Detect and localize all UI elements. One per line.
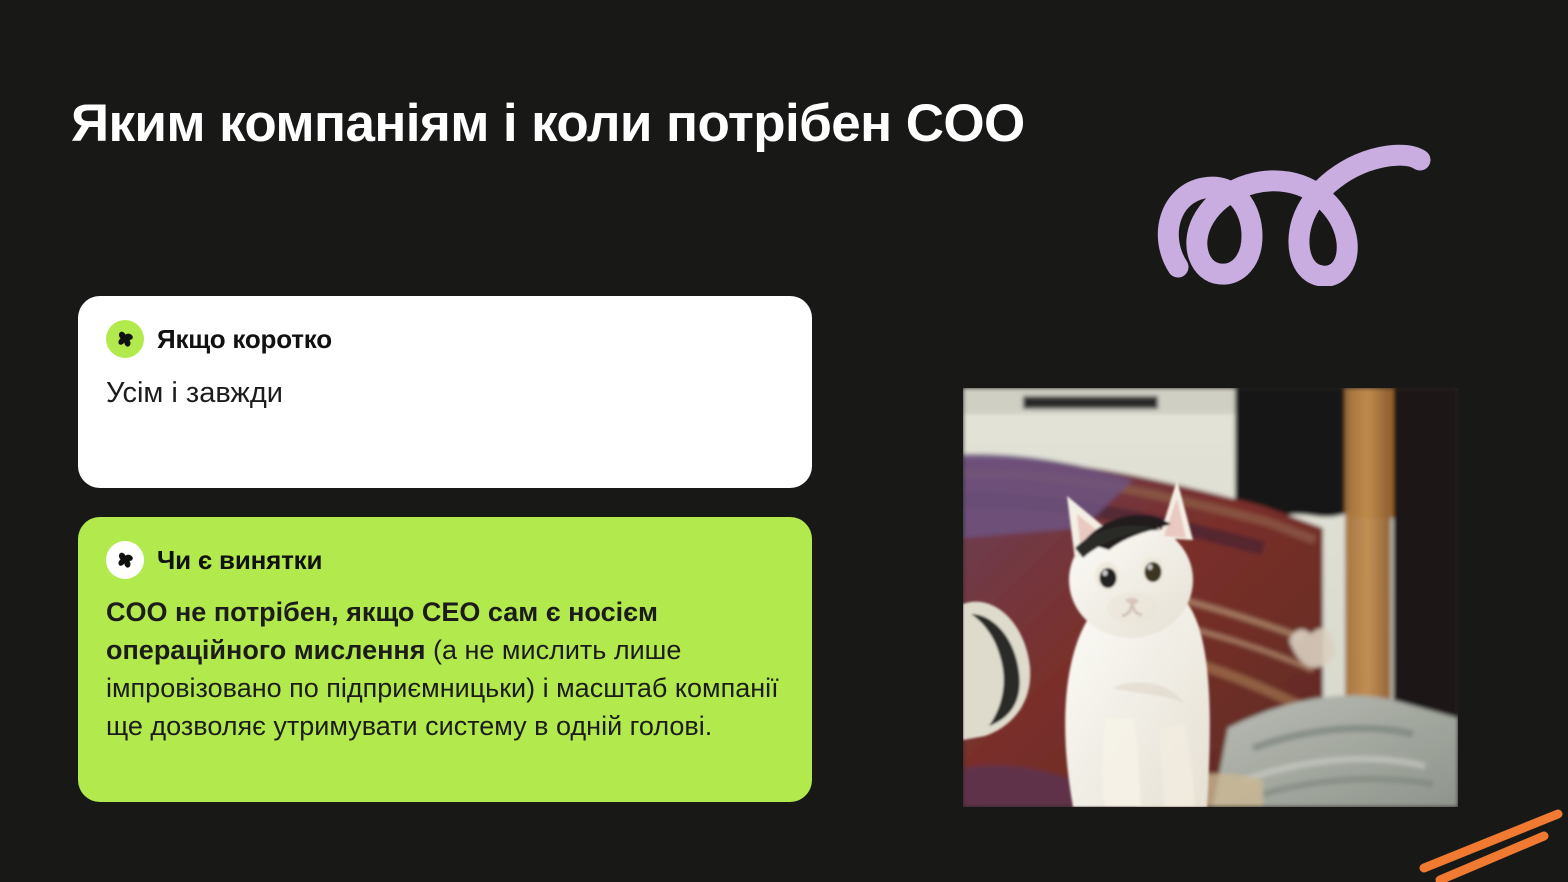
page-title: Яким компаніям і коли потрібен COO — [71, 93, 1321, 155]
exceptions-card-body: COO не потрібен, якщо CEO сам є носієм о… — [106, 593, 784, 745]
summary-card-title: Якщо коротко — [157, 324, 332, 355]
summary-card-header: Якщо коротко — [106, 320, 784, 358]
exceptions-card-header: Чи є винятки — [106, 541, 784, 579]
summary-card-body: Усім і завжди — [106, 374, 784, 413]
summary-card: Якщо коротко Усім і завжди — [78, 296, 812, 488]
orange-lines-icon — [1408, 806, 1568, 882]
exceptions-card: Чи є винятки COO не потрібен, якщо CEO с… — [78, 517, 812, 802]
cat-meme-photo — [963, 388, 1458, 807]
clover-icon — [106, 541, 144, 579]
slide-canvas: Яким компаніям і коли потрібен COO — [0, 0, 1568, 882]
clover-icon — [106, 320, 144, 358]
exceptions-card-title: Чи є винятки — [157, 545, 322, 576]
